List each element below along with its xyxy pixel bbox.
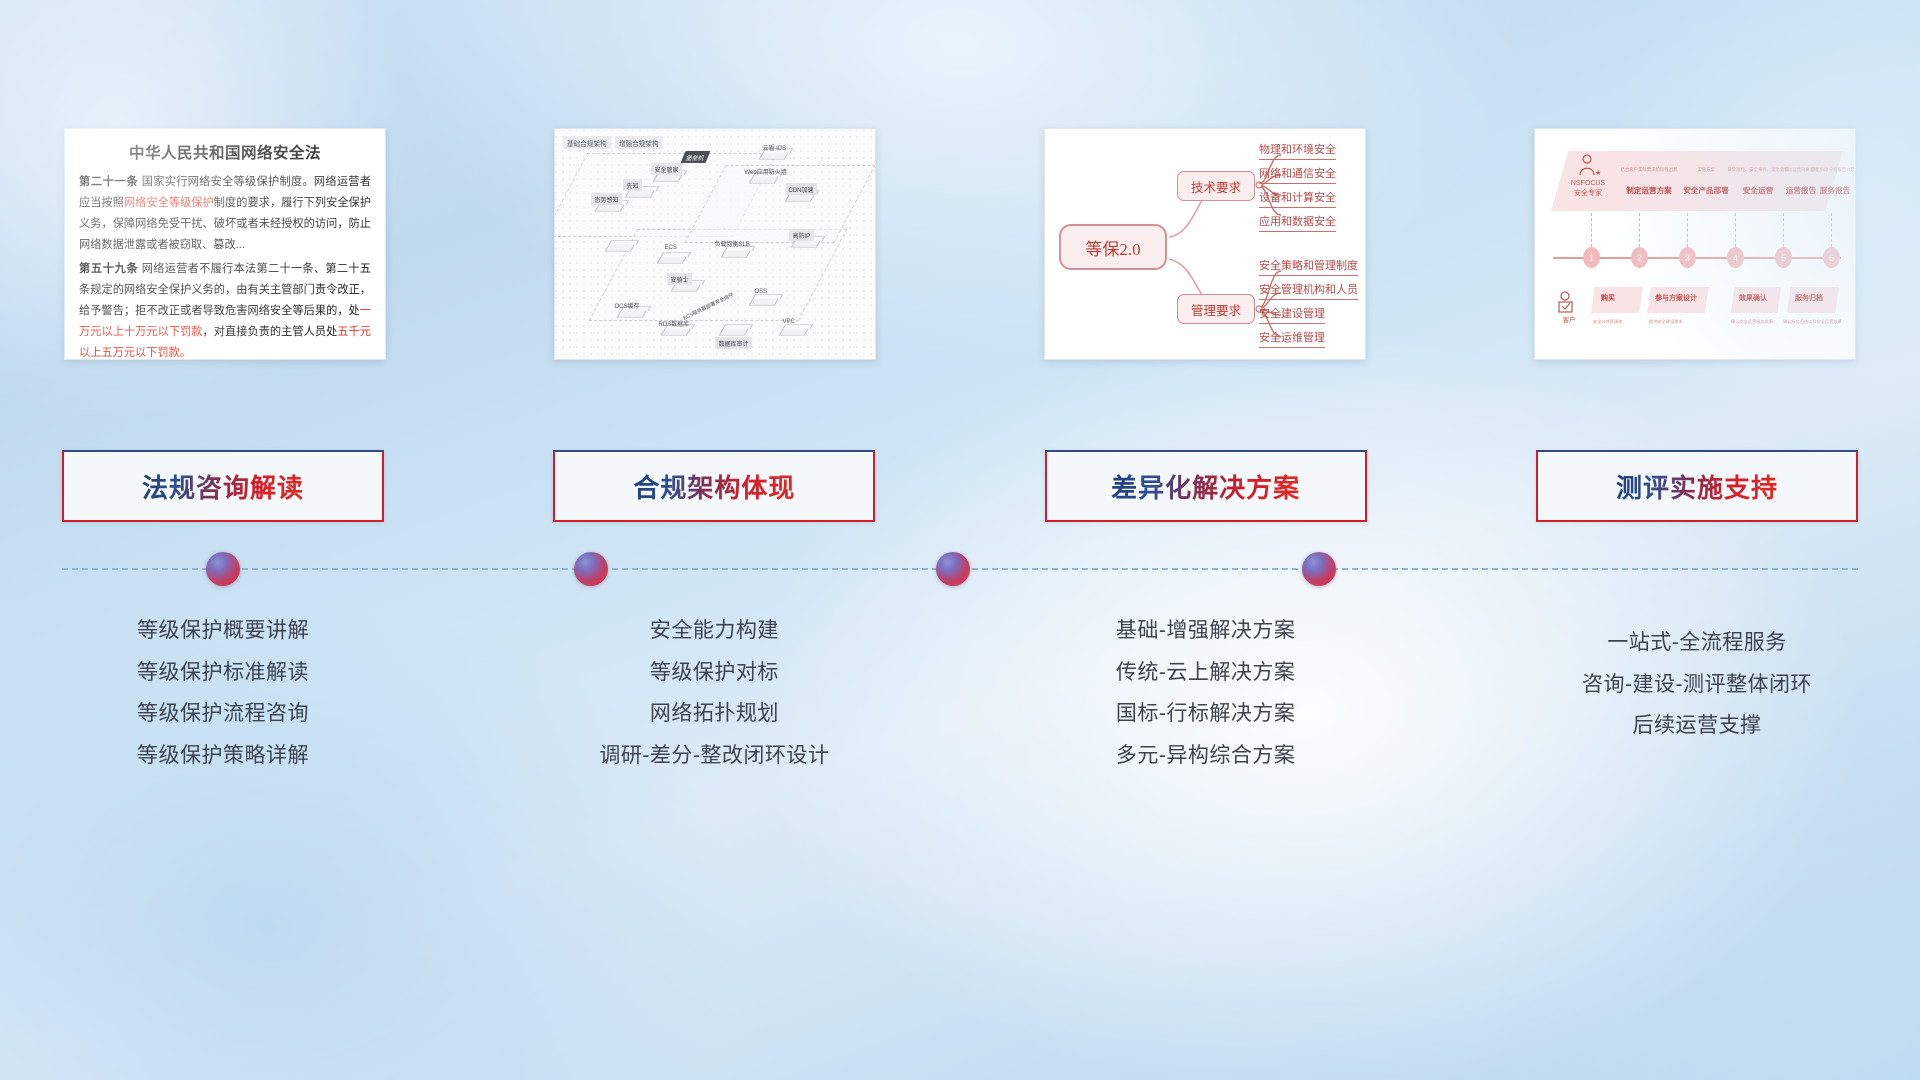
mindmap-leaf-device: 设备和计算安全 — [1259, 189, 1336, 208]
timeline-bottom-box-1 — [1591, 287, 1643, 313]
timeline-conn-4 — [1735, 213, 1736, 247]
timeline-dot-2[interactable] — [574, 552, 608, 586]
service-list-compliance-architecture: 安全能力构建 等级保护对标 网络拓扑规划 调研-差分-整改闭环设计 — [553, 600, 875, 830]
arch-label-slb: 负载均衡SLB — [711, 237, 753, 249]
arch-label-oss: OSS — [751, 287, 771, 296]
law-article-59-number: 第五十九条 — [79, 263, 138, 275]
arch-label-ecs: ECS — [661, 243, 680, 252]
arch-box-vpc — [779, 327, 810, 335]
preview-card-row: 中华人民共和国网络安全法 第二十一条 国家实行网络安全等级保护制度。网络运营者应… — [64, 128, 1856, 360]
law-article-59-text-b: ，对直接负责的主管人员处 — [203, 326, 338, 338]
service-list-row: 等级保护概要讲解 等级保护标准解读 等级保护流程咨询 等级保护策略详解 安全能力… — [62, 600, 1858, 830]
section-header-row: 法规咨询解读 合规架构体现 差异化解决方案 测评实施支持 — [62, 450, 1858, 522]
mindmap-root: 等保2.0 — [1059, 224, 1167, 270]
list-item: 基础-增强解决方案 — [1045, 610, 1367, 652]
timeline-step-1-title: 制定运营方案 — [1617, 185, 1681, 196]
timeline-node-3[interactable]: 3 — [1679, 247, 1696, 268]
header-box-differentiated-solution[interactable]: 差异化解决方案 — [1045, 450, 1367, 522]
arch-label-vpc: VPC — [779, 317, 798, 326]
header-box-regulation-consulting[interactable]: 法规咨询解读 — [62, 450, 384, 522]
timeline-bottom-1-sub: 安全公共资源池 — [1593, 319, 1622, 325]
timeline-bottom-3-sub: 确认安全运营服务效果 — [1731, 319, 1773, 325]
svg-text:★: ★ — [1595, 169, 1601, 177]
mindmap-branch-management: 管理要求 — [1177, 294, 1255, 324]
header-box-compliance-architecture[interactable]: 合规架构体现 — [553, 450, 875, 522]
card-service-timeline[interactable]: ★ NSFOCUS 安全专家 结合客户实际需求阶段性出具 制定运营方案 实施方案… — [1534, 128, 1856, 360]
customer-label: 客户 — [1549, 317, 1589, 325]
header-label-compliance-architecture: 合规架构体现 — [633, 468, 795, 505]
law-article-59: 第五十九条 网络运营者不履行本法第二十一条、第二十五条规定的网络安全保护义务的，… — [79, 259, 371, 360]
law-article-21-highlight: 网络安全等级保护 — [124, 197, 214, 209]
arch-box-bastion — [605, 243, 636, 251]
customer-icon — [1553, 289, 1597, 315]
timeline-bottom-4-sub: 确认服务归档以及安全运营效果 — [1783, 319, 1842, 325]
timeline-step-1-sub: 结合客户实际需求阶段性出具 — [1617, 167, 1681, 173]
card-cybersecurity-law[interactable]: 中华人民共和国网络安全法 第二十一条 国家实行网络安全等级保护制度。网络运营者应… — [64, 128, 386, 360]
law-article-21-number: 第二十一条 — [79, 176, 138, 188]
timeline-dot-row — [62, 552, 1858, 586]
timeline-step-5-title: 服务报告 — [1813, 185, 1856, 196]
timeline-dot-4[interactable] — [1302, 552, 1336, 586]
timeline-node-5[interactable]: 5 — [1775, 247, 1792, 268]
timeline-conn-2 — [1639, 213, 1640, 247]
expert-role: 安全专家 — [1559, 189, 1617, 198]
law-title: 中华人民共和国网络安全法 — [79, 141, 371, 163]
card-dengbao-mindmap[interactable]: 等保2.0 技术要求 管理要求 物理和环境安全 网络和通信安全 设备和计算安全 … — [1044, 128, 1366, 360]
list-item: 等级保护流程咨询 — [62, 693, 384, 735]
timeline-bottom-3-title: 效果确认 — [1739, 293, 1767, 303]
list-item: 后续运营支撑 — [1536, 705, 1858, 747]
mindmap-leaf-physical: 物理和环境安全 — [1259, 141, 1336, 160]
mindmap-leaf-policy: 安全策略和管理制度 — [1259, 257, 1358, 276]
timeline-node-6[interactable]: 6 — [1823, 247, 1840, 268]
arch-box-slb — [721, 249, 752, 257]
header-label-regulation-consulting: 法规咨询解读 — [142, 468, 304, 505]
timeline-node-1[interactable]: 1 — [1583, 247, 1600, 268]
service-list-assessment-support: 一站式-全流程服务 咨询-建设-测评整体闭环 后续运营支撑 — [1536, 600, 1858, 830]
law-article-21: 第二十一条 国家实行网络安全等级保护制度。网络运营者应当按照网络安全等级保护制度… — [79, 172, 371, 256]
arch-label-dbaudit: 数据库审计 — [715, 337, 752, 349]
list-item: 等级保护概要讲解 — [62, 610, 384, 652]
arch-label-bastion-top: 堡垒机 — [681, 151, 711, 163]
list-item: 等级保护对标 — [553, 652, 875, 694]
list-item: 调研-差分-整改闭环设计 — [553, 735, 875, 777]
arch-label-ids: 云盾 IDS — [759, 141, 790, 153]
arch-label-anqishi: 安骑士 — [667, 273, 692, 285]
mindmap-branch-technical: 技术要求 — [1177, 171, 1255, 201]
timeline-conn-1 — [1591, 213, 1592, 247]
slide-canvas: 中华人民共和国网络安全法 第二十一条 国家实行网络安全等级保护制度。网络运营者应… — [0, 0, 1920, 1080]
arch-label-situation: 态势感知 — [591, 193, 622, 205]
timeline-bottom-2-title: 参与方案设计 — [1655, 293, 1697, 303]
timeline-dot-3[interactable] — [936, 552, 970, 586]
arch-box-ecs — [657, 255, 688, 263]
arch-label-gaofang: 高防IP — [789, 229, 814, 241]
mindmap-leaf-ops: 安全运维管理 — [1259, 329, 1325, 348]
arch-label-guanjia: 安全管家 — [651, 163, 682, 175]
timeline-bottom-2-sub: 提供安全建设需求 — [1649, 319, 1683, 325]
arch-box-oss — [749, 297, 780, 305]
mindmap-leaf-network: 网络和通信安全 — [1259, 165, 1336, 184]
timeline-step-5-sub: 输出阶段分析报告以及安全运营效果 — [1811, 167, 1856, 173]
security-expert-icon: ★ — [1565, 153, 1621, 179]
list-item: 一站式-全流程服务 — [1536, 622, 1858, 664]
timeline-bottom-1-title: 购买 — [1601, 293, 1615, 303]
list-item: 网络拓扑规划 — [553, 693, 875, 735]
list-item: 传统-云上解决方案 — [1045, 652, 1367, 694]
list-item: 安全能力构建 — [553, 610, 875, 652]
arch-tab-basic[interactable]: 基础合规架构 — [563, 136, 611, 149]
header-label-assessment-support: 测评实施支持 — [1616, 468, 1778, 505]
mindmap-leaf-org: 安全管理机构和人员 — [1259, 281, 1358, 300]
list-item: 国标-行标解决方案 — [1045, 693, 1367, 735]
arch-tab-enhanced[interactable]: 增强合规架构 — [615, 136, 663, 149]
timeline-conn-5 — [1783, 213, 1784, 247]
service-list-differentiated-solution: 基础-增强解决方案 传统-云上解决方案 国标-行标解决方案 多元-异构综合方案 — [1045, 600, 1367, 830]
architecture-diagram: 基础合规架构 增强合规架构 — [555, 129, 875, 359]
list-item: 咨询-建设-测评整体闭环 — [1536, 664, 1858, 706]
timeline-conn-3 — [1687, 213, 1688, 247]
timeline-node-2[interactable]: 2 — [1631, 247, 1648, 268]
card-compliance-architecture[interactable]: 基础合规架构 增强合规架构 — [554, 128, 876, 360]
list-item: 等级保护策略详解 — [62, 735, 384, 777]
header-label-differentiated-solution: 差异化解决方案 — [1111, 468, 1300, 505]
timeline-step-2-title: 安全产品部署 — [1679, 185, 1733, 196]
expert-brand: NSFOCUS — [1559, 179, 1617, 188]
arch-box-dbaudit — [719, 327, 750, 335]
timeline-node-4[interactable]: 4 — [1727, 247, 1744, 268]
list-item: 多元-异构综合方案 — [1045, 735, 1367, 777]
mindmap-leaf-build: 安全建设管理 — [1259, 305, 1325, 324]
service-list-regulation-consulting: 等级保护概要讲解 等级保护标准解读 等级保护流程咨询 等级保护策略详解 — [62, 600, 384, 830]
mindmap-leaf-app-data: 应用和数据安全 — [1259, 213, 1336, 232]
arch-label-cdn: CDN加速 — [785, 183, 817, 195]
arch-label-xianzhi: 先知 — [623, 179, 642, 191]
arch-label-waf: Web应用防火墙 — [741, 165, 790, 177]
arch-label-ocs: OCS缓存 — [611, 299, 643, 311]
timeline-dot-1[interactable] — [206, 552, 240, 586]
timeline-conn-6 — [1831, 213, 1832, 247]
list-item: 等级保护标准解读 — [62, 652, 384, 694]
timeline-bottom-4-title: 服务归档 — [1795, 293, 1823, 303]
header-box-assessment-support[interactable]: 测评实施支持 — [1536, 450, 1858, 522]
